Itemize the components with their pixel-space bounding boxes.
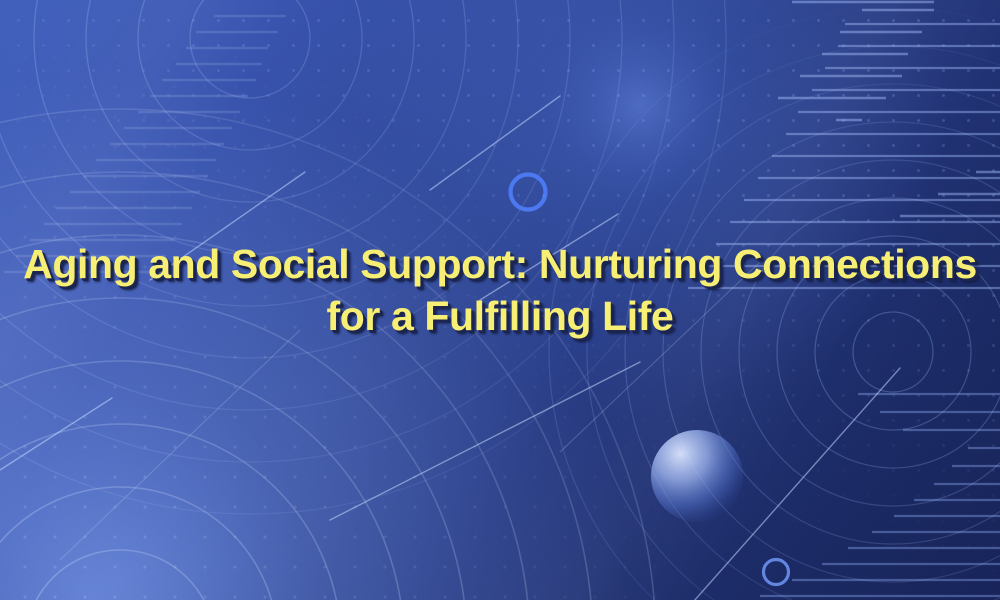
- page-title: Aging and Social Support: Nurturing Conn…: [14, 238, 986, 343]
- glow-blob-top-center: [530, 0, 750, 215]
- page-title-line-1: Aging and Social Support: Nurturing Conn…: [23, 241, 977, 287]
- ring-outline-bottom: [764, 560, 789, 585]
- glow-sphere: [651, 430, 743, 522]
- glow-blob-bottom-left: [0, 370, 320, 600]
- staircase-lines-bottom-right: [760, 394, 1000, 596]
- staircase-lines-left: [4, 16, 286, 272]
- ring-outline-center: [511, 175, 546, 210]
- title-block: Aging and Social Support: Nurturing Conn…: [0, 238, 1000, 343]
- title-slide: Aging and Social Support: Nurturing Conn…: [0, 0, 1000, 600]
- staircase-lines-top-right: [778, 2, 1000, 216]
- concentric-rings-bottom-left: [0, 109, 656, 600]
- diagonal-streaks: [0, 96, 900, 600]
- page-title-line-2: for a Fulfilling Life: [327, 293, 674, 339]
